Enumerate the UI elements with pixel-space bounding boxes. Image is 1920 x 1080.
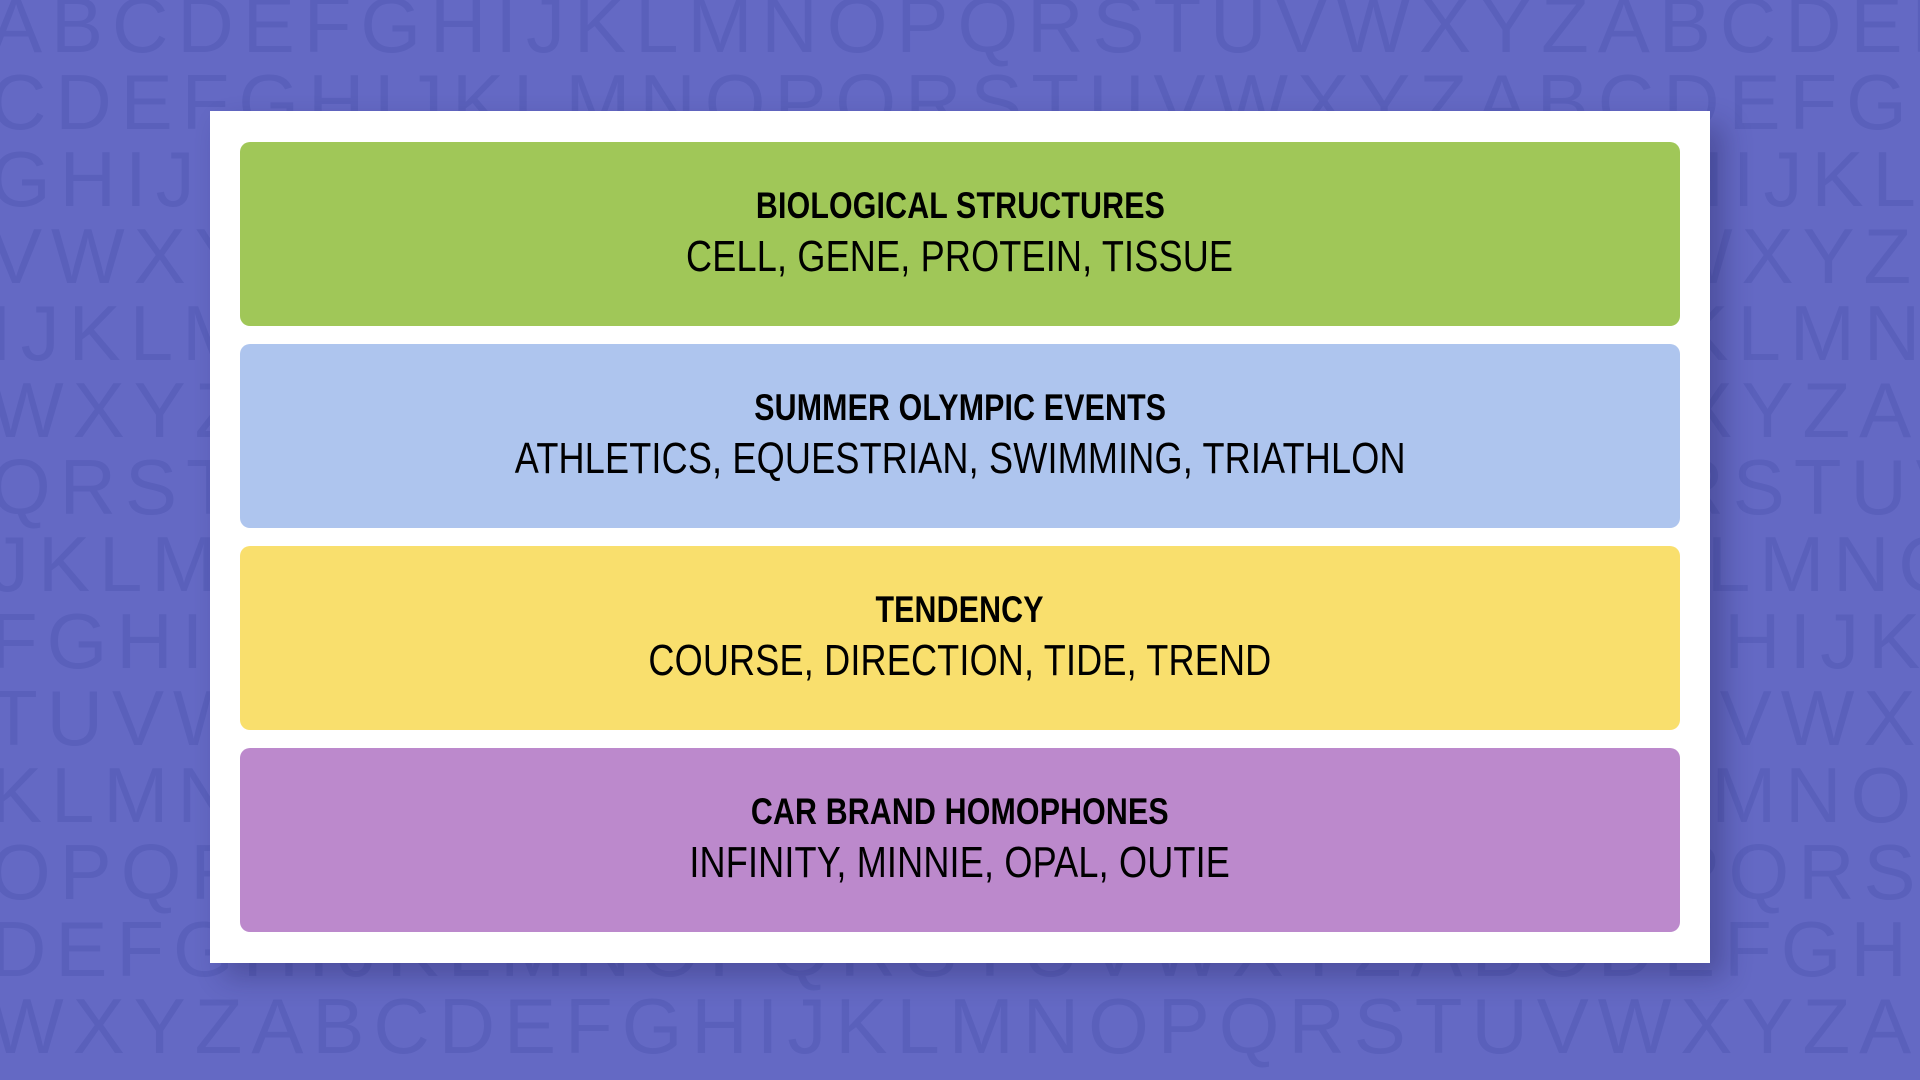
category-row: CAR BRAND HOMOPHONES INFINITY, MINNIE, O… [240,748,1680,932]
category-members: COURSE, DIRECTION, TIDE, TREND [648,637,1271,685]
category-title: CAR BRAND HOMOPHONES [751,792,1169,832]
category-title: TENDENCY [876,590,1044,630]
connections-answer-card: BIOLOGICAL STRUCTURES CELL, GENE, PROTEI… [210,111,1710,963]
category-row: SUMMER OLYMPIC EVENTS ATHLETICS, EQUESTR… [240,344,1680,528]
category-title: SUMMER OLYMPIC EVENTS [754,388,1166,428]
alphabet-pattern-row: WXYZABCDEFGHIJKLMNOPQRSTUVWXYZABCDEF [0,987,1920,1065]
category-row: TENDENCY COURSE, DIRECTION, TIDE, TREND [240,546,1680,730]
category-title: BIOLOGICAL STRUCTURES [755,186,1164,226]
category-members: CELL, GENE, PROTEIN, TISSUE [686,233,1233,281]
category-members: INFINITY, MINNIE, OPAL, OUTIE [690,839,1231,887]
category-members: ATHLETICS, EQUESTRIAN, SWIMMING, TRIATHL… [515,435,1406,483]
category-row: BIOLOGICAL STRUCTURES CELL, GENE, PROTEI… [240,142,1680,326]
alphabet-pattern-row: ABCDEFGHIJKLMNOPQRSTUVWXYZABCDEFGHIJ [0,0,1920,64]
